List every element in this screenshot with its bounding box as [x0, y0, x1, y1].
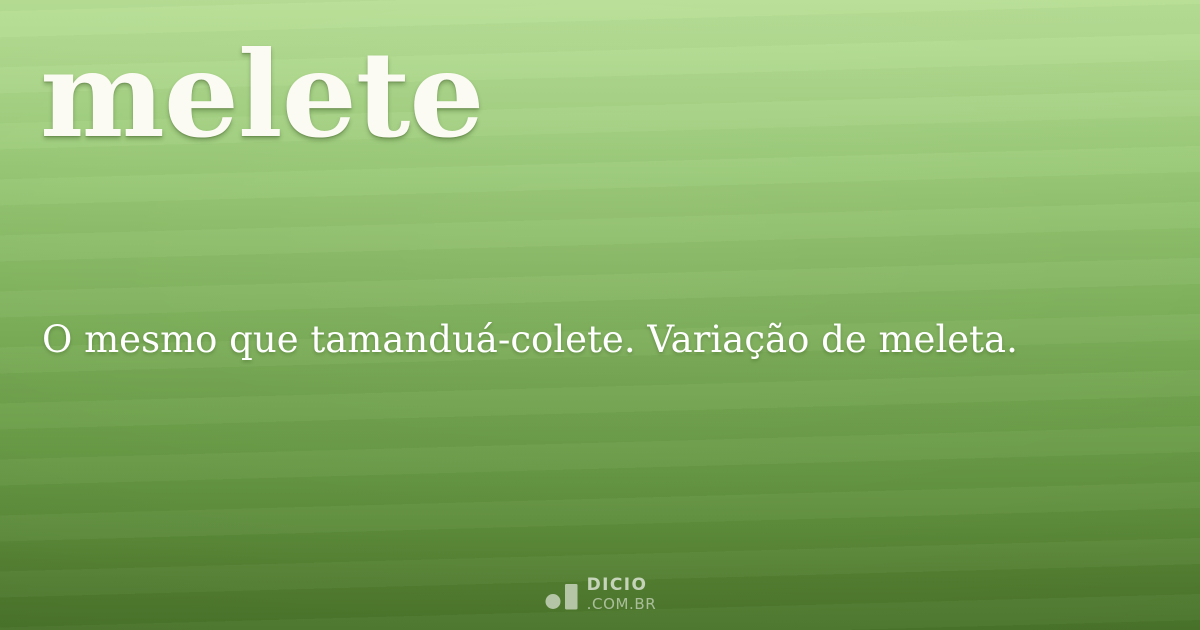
brand-logo-text: DICIO .COM.BR — [587, 577, 657, 612]
page-title: melete — [40, 36, 483, 154]
brand-name: DICIO — [587, 577, 657, 594]
definition-text: O mesmo que tamanduá-colete. Variação de… — [42, 312, 1052, 367]
card-content: melete O mesmo que tamanduá-colete. Vari… — [0, 0, 1200, 630]
brand-logo[interactable]: DICIO .COM.BR — [0, 577, 1200, 612]
word-definition-card: melete O mesmo que tamanduá-colete. Vari… — [0, 0, 1200, 630]
brand-domain: .COM.BR — [587, 597, 657, 612]
dicio-square-dot-icon — [544, 580, 578, 610]
